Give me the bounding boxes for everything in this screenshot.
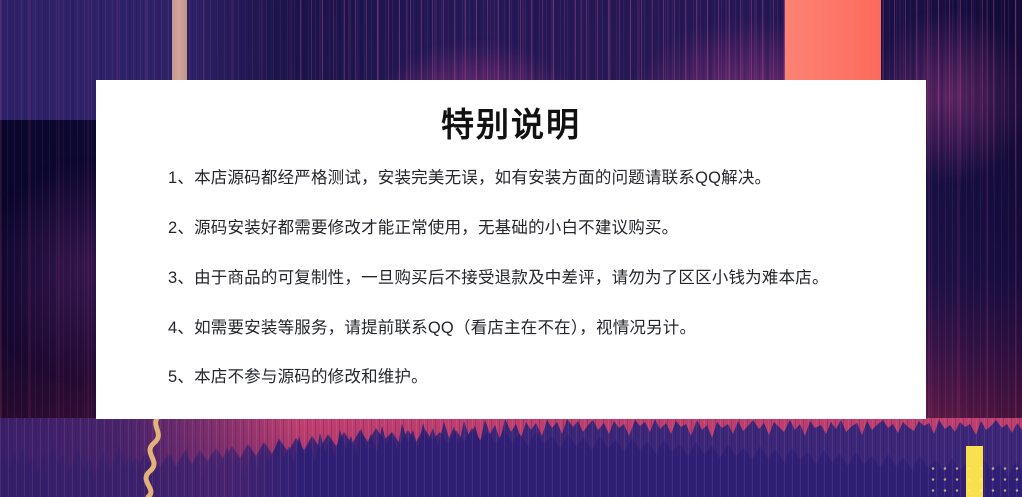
gold-squiggle-icon <box>130 415 186 497</box>
notice-list: 1、本店源码都经严格测试，安装完美无误，如有安装方面的问题请联系QQ解决。 2、… <box>96 166 926 390</box>
list-item: 3、由于商品的可复制性，一旦购买后不接受退款及中差评，请勿为了区区小钱为难本店。 <box>168 266 864 291</box>
list-item: 2、源码安装好都需要修改才能正常使用，无基础的小白不建议购买。 <box>168 216 864 241</box>
list-item: 1、本店源码都经严格测试，安装完美无误，如有安装方面的问题请联系QQ解决。 <box>168 166 864 191</box>
list-item: 4、如需要安装等服务，请提前联系QQ（看店主在不在），视情况另计。 <box>168 316 864 341</box>
list-item: 5、本店不参与源码的修改和维护。 <box>168 365 864 390</box>
dot-grid-icon <box>925 460 1022 497</box>
coral-block-icon <box>785 0 881 80</box>
notice-card: 特别说明 1、本店源码都经严格测试，安装完美无误，如有安装方面的问题请联系QQ解… <box>96 80 926 419</box>
page-title: 特别说明 <box>96 107 926 143</box>
poster-stage: 特别说明 1、本店源码都经严格测试，安装完美无误，如有安装方面的问题请联系QQ解… <box>0 0 1022 497</box>
tan-vertical-stripe-icon <box>172 0 187 84</box>
